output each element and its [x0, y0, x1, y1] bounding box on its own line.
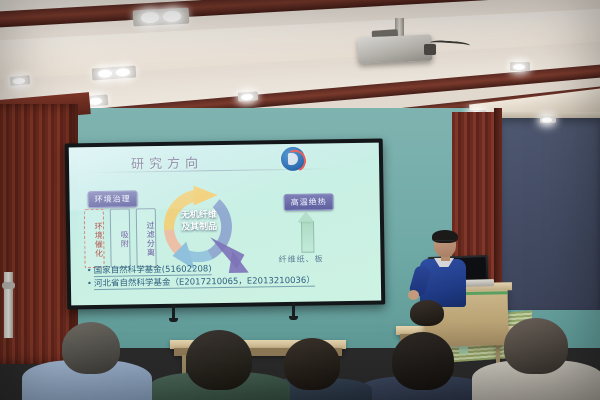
projection-screen-frame: 研究方向 无机纤维 及其制品 [65, 139, 386, 310]
badge-high-temp-insulation: 高温绝热 [284, 193, 334, 211]
cycle-center-line1: 无机纤维 [166, 209, 232, 222]
door-handle-icon [2, 282, 15, 289]
presenter-hand [408, 290, 419, 300]
light-bulb-icon [89, 97, 103, 105]
attendee-head [186, 330, 252, 390]
ceiling-light-fixture [510, 62, 530, 71]
projector [357, 34, 432, 63]
glasses-icon [434, 240, 454, 246]
attendee-head [410, 300, 444, 326]
ceiling-light-fixture [540, 116, 556, 123]
attendee-head [504, 318, 568, 374]
navy-roller-blind [500, 118, 600, 310]
cycle-center-line2: 及其制品 [166, 221, 232, 234]
presenter [420, 232, 466, 304]
ceiling-light-fixture [10, 75, 31, 86]
attendee-head [284, 338, 340, 390]
light-bulb-icon [116, 68, 131, 77]
ceiling-light-fixture [133, 8, 190, 27]
conference-room-photo: 研究方向 无机纤维 及其制品 [0, 0, 600, 400]
screen-mount-bracket [292, 303, 295, 319]
projection-screen: 研究方向 无机纤维 及其制品 [69, 143, 381, 306]
attendee-head [392, 332, 454, 390]
slide-bullet-list: •国家自然科学基金(51602208) •河北省自然科学基金（E20172100… [87, 261, 372, 291]
ceiling-light-fixture [238, 91, 259, 101]
light-bulb-icon [141, 12, 160, 24]
light-bulb-icon [241, 93, 253, 100]
badge-environmental-governance: 环境治理 [87, 190, 137, 208]
cycle-center-label: 无机纤维 及其制品 [166, 209, 232, 234]
light-bulb-icon [163, 10, 182, 22]
attendee-head [62, 322, 120, 374]
bullet-text: 国家自然科学基金(51602208) [94, 264, 212, 277]
column-filtration-separation: 过滤分离 [136, 208, 157, 267]
light-bulb-icon [98, 69, 113, 78]
light-bulb-icon [13, 77, 25, 84]
university-emblem-icon [281, 147, 305, 171]
light-bulb-icon [542, 117, 552, 122]
column-env-catalysis: 环境催化 [84, 209, 105, 268]
cycle-diagram: 无机纤维 及其制品 [149, 177, 249, 277]
light-bulb-icon [513, 64, 525, 70]
column-adsorption: 吸附 [110, 208, 131, 267]
screen-mount-bracket [172, 305, 175, 321]
slide-title: 研究方向 [131, 152, 203, 172]
bullet-text: 河北省自然科学基金（E2017210065，E2013210036） [94, 276, 315, 290]
